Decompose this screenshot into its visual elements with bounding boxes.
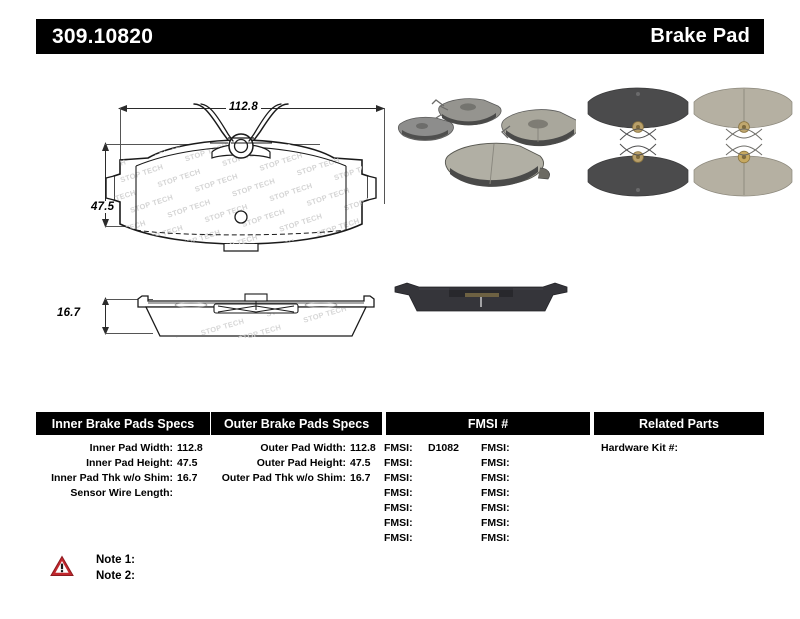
notes-section: Note 1: Note 2: xyxy=(50,552,135,584)
fmsi-label: FMSI: xyxy=(481,486,517,501)
fmsi-label: FMSI: xyxy=(384,441,420,456)
table-row: FMSI: xyxy=(384,471,481,486)
spec-value: 112.8 xyxy=(173,441,211,456)
svg-text:STOP TECH: STOP TECH xyxy=(76,183,100,205)
table-row: FMSI: D1082 xyxy=(384,441,481,456)
table-row: Sensor Wire Length: xyxy=(36,486,211,501)
spec-value: 16.7 xyxy=(173,471,211,486)
svg-text:STOP TECH: STOP TECH xyxy=(76,244,119,266)
table-row: Outer Pad Thk w/o Shim: 16.7 xyxy=(211,471,384,486)
fmsi-label: FMSI: xyxy=(481,501,517,516)
svg-text:STOP TECH: STOP TECH xyxy=(380,195,406,217)
table-header-row: Inner Brake Pads Specs Outer Brake Pads … xyxy=(36,412,764,435)
inner-specs-column: Inner Pad Width: 112.8 Inner Pad Height:… xyxy=(36,441,211,546)
fmsi-value xyxy=(420,501,428,516)
column-header-outer-specs: Outer Brake Pads Specs xyxy=(211,412,382,435)
fmsi-value xyxy=(517,486,525,501)
spec-label: Outer Pad Thk w/o Shim: xyxy=(211,471,346,486)
brake-pad-edge-photo xyxy=(391,273,571,321)
table-row: FMSI: xyxy=(384,516,481,531)
spec-label: Outer Pad Height: xyxy=(211,456,346,471)
spec-label: Inner Pad Thk w/o Shim: xyxy=(36,471,173,486)
warning-triangle-icon xyxy=(50,555,74,577)
svg-text:STOP TECH: STOP TECH xyxy=(149,253,194,275)
table-row: FMSI: xyxy=(481,471,578,486)
fmsi-label: FMSI: xyxy=(481,516,517,531)
svg-text:STOP TECH: STOP TECH xyxy=(121,279,166,286)
fmsi-column: FMSI: D1082 FMSI: FMSI: FMSI: xyxy=(384,441,593,546)
spec-label: Inner Pad Height: xyxy=(36,456,173,471)
table-row: FMSI: xyxy=(481,456,578,471)
table-row: Inner Pad Width: 112.8 xyxy=(36,441,211,456)
fmsi-label: FMSI: xyxy=(384,516,420,531)
column-header-related-parts: Related Parts xyxy=(594,412,764,435)
table-row: Outer Pad Width: 112.8 xyxy=(211,441,384,456)
table-row: FMSI: xyxy=(481,531,578,546)
fmsi-label: FMSI: xyxy=(481,471,517,486)
fmsi-value xyxy=(517,516,525,531)
brake-pad-face-view: STOP TECH STOP TECH STOP TECH STOP TECH … xyxy=(76,96,406,286)
spec-value: 47.5 xyxy=(346,456,384,471)
table-row: Inner Pad Thk w/o Shim: 16.7 xyxy=(36,471,211,486)
fmsi-value: D1082 xyxy=(420,441,459,456)
table-row: FMSI: xyxy=(481,441,578,456)
fmsi-value xyxy=(420,486,428,501)
fmsi-value xyxy=(420,456,428,471)
spec-value: 112.8 xyxy=(346,441,384,456)
table-row: FMSI: xyxy=(384,456,481,471)
column-header-inner-specs: Inner Brake Pads Specs xyxy=(36,412,210,435)
note-2: Note 2: xyxy=(96,568,135,584)
table-row: FMSI: xyxy=(384,531,481,546)
note-1: Note 1: xyxy=(96,552,135,568)
fmsi-value xyxy=(517,501,525,516)
fmsi-value xyxy=(420,516,428,531)
svg-text:STOP TECH: STOP TECH xyxy=(276,96,321,117)
spec-value: 16.7 xyxy=(346,471,384,486)
fmsi-value xyxy=(420,531,428,546)
related-parts-column: Hardware Kit #: xyxy=(593,441,764,546)
outer-specs-column: Outer Pad Width: 112.8 Outer Pad Height:… xyxy=(211,441,384,546)
spec-label: Inner Pad Width: xyxy=(36,441,173,456)
spec-value: 47.5 xyxy=(173,456,211,471)
svg-text:STOP TECH: STOP TECH xyxy=(313,99,358,121)
svg-text:STOP TECH: STOP TECH xyxy=(323,129,368,151)
svg-text:STOP TECH: STOP TECH xyxy=(134,335,179,350)
fmsi-value xyxy=(420,471,428,486)
svg-text:STOP TECH: STOP TECH xyxy=(76,214,110,236)
spec-label: Outer Pad Width: xyxy=(211,441,346,456)
svg-text:STOP TECH: STOP TECH xyxy=(84,274,129,286)
specifications-table: Inner Brake Pads Specs Outer Brake Pads … xyxy=(36,412,764,546)
brake-pad-set-angled-photo xyxy=(392,82,582,192)
table-row: FMSI: xyxy=(481,486,578,501)
fmsi-label: FMSI: xyxy=(384,501,420,516)
table-row: Inner Pad Height: 47.5 xyxy=(36,456,211,471)
brake-pad-edge-view: STOP TECH STOP TECH STOP TECH STOP TECH … xyxy=(106,290,406,350)
table-row: FMSI: xyxy=(384,501,481,516)
table-row: FMSI: xyxy=(481,501,578,516)
fmsi-label: FMSI: xyxy=(384,456,420,471)
fmsi-value xyxy=(517,531,525,546)
svg-text:STOP TECH: STOP TECH xyxy=(171,341,216,350)
fmsi-subcolumn-2: FMSI: FMSI: FMSI: FMSI: xyxy=(481,441,578,546)
part-number: 309.10820 xyxy=(52,25,153,49)
fmsi-label: FMSI: xyxy=(481,456,517,471)
brake-pad-spec-sheet: 309.10820 Brake Pad 112.8 47.5 xyxy=(0,0,800,619)
fmsi-subcolumn-1: FMSI: D1082 FMSI: FMSI: FMSI: xyxy=(384,441,481,546)
fmsi-label: FMSI: xyxy=(384,471,420,486)
svg-text:STOP TECH: STOP TECH xyxy=(350,104,395,126)
brake-pad-set-grid-photo xyxy=(576,80,800,202)
fmsi-label: FMSI: xyxy=(481,441,517,456)
part-type-label: Brake Pad xyxy=(650,25,750,48)
fmsi-label: FMSI: xyxy=(481,531,517,546)
spec-value xyxy=(173,486,211,501)
fmsi-value xyxy=(517,441,525,456)
fmsi-value xyxy=(517,456,525,471)
header-bar: 309.10820 Brake Pad xyxy=(36,19,764,54)
svg-text:STOP TECH: STOP TECH xyxy=(111,249,156,271)
drawing-area: 112.8 47.5 STOP TECH xyxy=(36,66,764,376)
table-body: Inner Pad Width: 112.8 Inner Pad Height:… xyxy=(36,441,764,546)
column-header-fmsi: FMSI # xyxy=(386,412,590,435)
fmsi-value xyxy=(517,471,525,486)
spec-label: Sensor Wire Length: xyxy=(36,486,173,501)
table-row: FMSI: xyxy=(481,516,578,531)
fmsi-label: FMSI: xyxy=(384,486,420,501)
note-list: Note 1: Note 2: xyxy=(96,552,135,584)
table-row: Outer Pad Height: 47.5 xyxy=(211,456,384,471)
thickness-dimension-label: 16.7 xyxy=(54,307,83,319)
svg-text:STOP TECH: STOP TECH xyxy=(186,258,231,280)
table-row: Hardware Kit #: xyxy=(593,441,764,456)
fmsi-label: FMSI: xyxy=(384,531,420,546)
table-row: FMSI: xyxy=(384,486,481,501)
